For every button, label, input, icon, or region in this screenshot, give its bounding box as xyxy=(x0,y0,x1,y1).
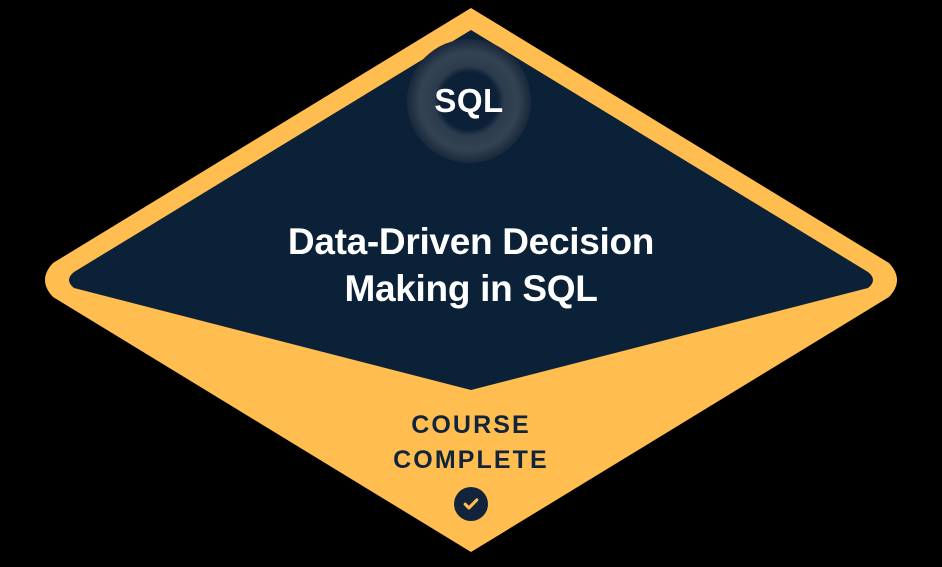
status-label-line-1: COURSE xyxy=(171,408,771,443)
completion-status: COURSE COMPLETE xyxy=(171,408,771,521)
course-title-line-2: Making in SQL xyxy=(110,265,832,312)
badge-canvas: SQL Data-Driven Decision Making in SQL C… xyxy=(0,0,942,567)
status-label-line-2: COMPLETE xyxy=(171,443,771,478)
sql-logo-label: SQL xyxy=(407,39,531,163)
badge-content: SQL Data-Driven Decision Making in SQL C… xyxy=(0,0,942,567)
sql-ring-logo: SQL xyxy=(407,39,531,163)
course-title: Data-Driven Decision Making in SQL xyxy=(110,218,832,313)
check-circle-icon xyxy=(454,487,488,521)
course-title-line-1: Data-Driven Decision xyxy=(110,218,832,265)
